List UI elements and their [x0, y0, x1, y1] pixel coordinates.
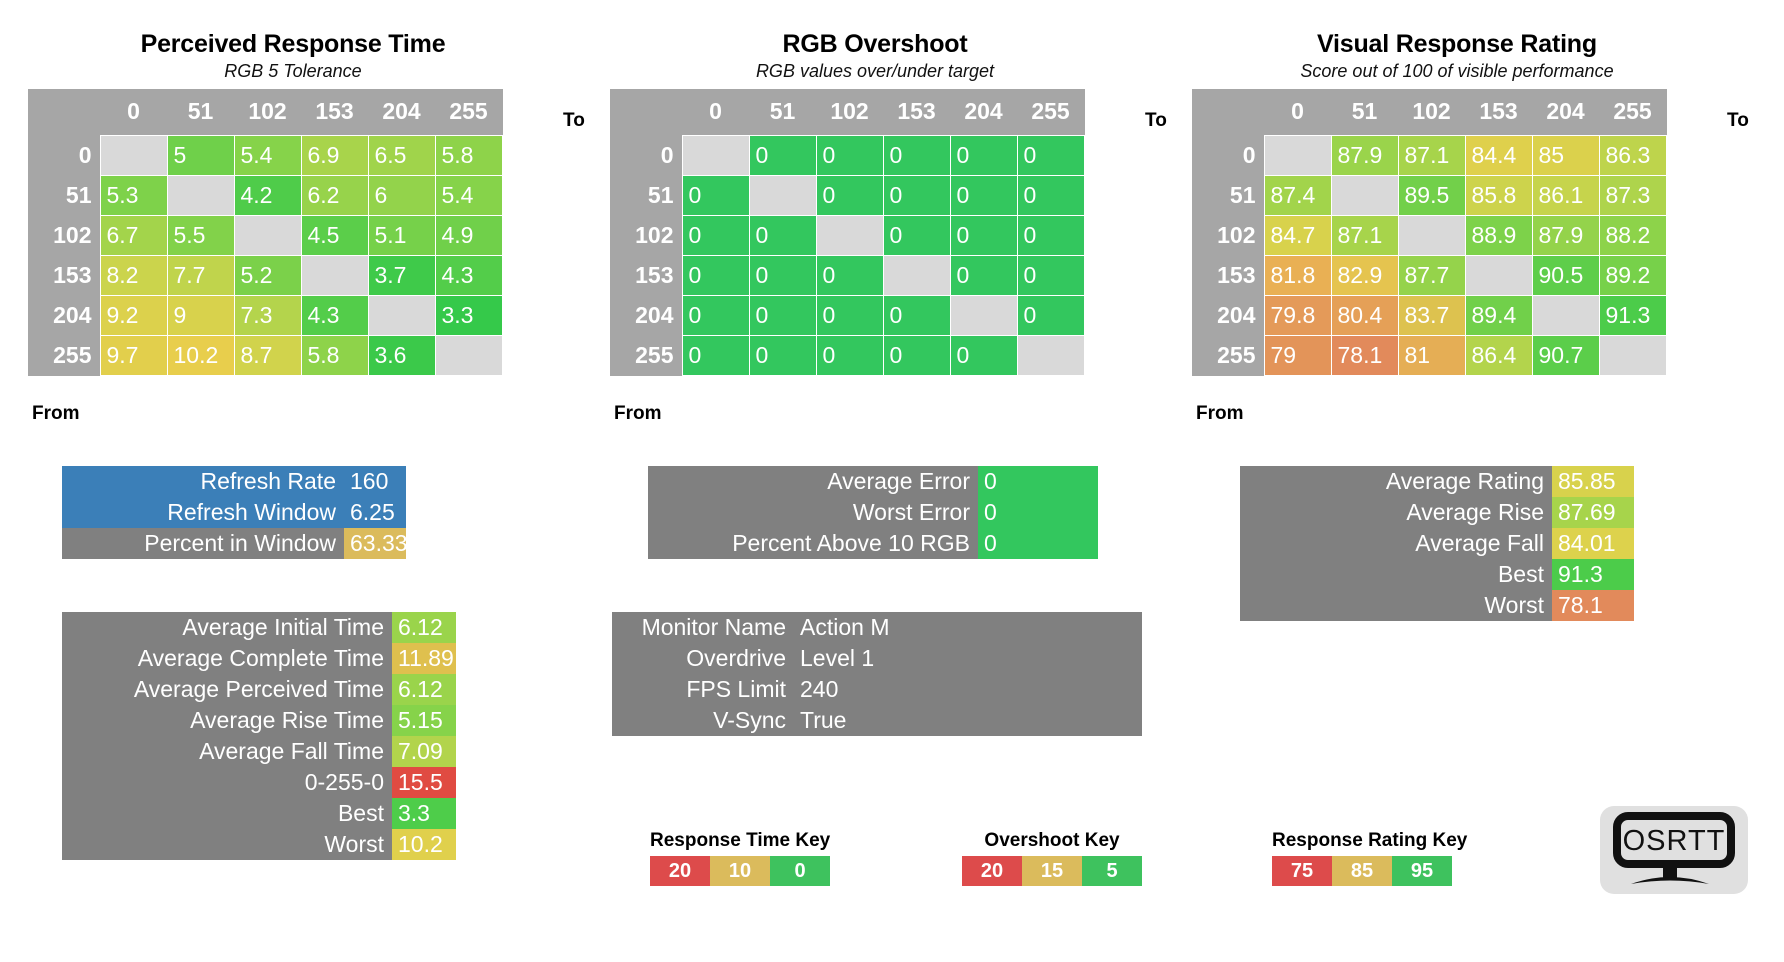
stat-label: Refresh Rate: [62, 466, 344, 497]
matrix-cell: 7.3: [234, 295, 301, 335]
stat-row: Average Rating85.85: [1240, 466, 1634, 497]
matrix-row: 5100000: [610, 175, 1084, 215]
matrix-row: 1026.75.54.55.14.9: [28, 215, 502, 255]
stat-value: 240: [794, 674, 1142, 705]
matrix-cell: 0: [1017, 215, 1084, 255]
refresh-rate-stats-box: Refresh Rate160Refresh Window6.25Percent…: [62, 466, 406, 559]
heatmap-matrix-wrap: 051102153204255055.46.96.55.8515.34.26.2…: [28, 89, 558, 376]
key-title: Overshoot Key: [962, 830, 1142, 852]
matrix-cell-blank: [816, 215, 883, 255]
stat-label: Average Complete Time: [62, 643, 392, 674]
matrix-row-header: 0: [28, 135, 100, 175]
matrix-cell: 0: [749, 335, 816, 375]
matrix-cell: 9: [167, 295, 234, 335]
from-axis-label: From: [614, 403, 662, 425]
matrix-cell: 0: [950, 175, 1017, 215]
matrix-row-header: 51: [610, 175, 682, 215]
matrix-column-header: 102: [234, 89, 301, 135]
matrix-cell: 91.3: [1599, 295, 1666, 335]
stat-row: Average Error0: [648, 466, 1098, 497]
matrix-cell: 3.6: [368, 335, 435, 375]
to-axis-label: To: [563, 110, 585, 132]
matrix-cell: 5.8: [301, 335, 368, 375]
stat-value: 0: [978, 466, 1098, 497]
matrix-row: 055.46.96.55.8: [28, 135, 502, 175]
matrix-cell: 87.1: [1331, 215, 1398, 255]
stat-value: 7.09: [392, 736, 456, 767]
stat-row: Average Initial Time6.12: [62, 612, 456, 643]
key-segment: 20: [962, 856, 1022, 886]
stat-row: Refresh Window6.25: [62, 497, 406, 528]
matrix-cell: 3.7: [368, 255, 435, 295]
matrix-row: 000000: [610, 135, 1084, 175]
matrix-cell: 84.7: [1264, 215, 1331, 255]
matrix-cell: 87.9: [1532, 215, 1599, 255]
matrix-cell: 4.9: [435, 215, 502, 255]
matrix-column-header: 0: [100, 89, 167, 135]
panel-title: Visual Response Rating: [1192, 30, 1722, 59]
stat-row: Best91.3: [1240, 559, 1634, 590]
matrix-column-header: 102: [1398, 89, 1465, 135]
stat-row: Average Rise87.69: [1240, 497, 1634, 528]
matrix-cell: 85: [1532, 135, 1599, 175]
stat-row: Worst78.1: [1240, 590, 1634, 621]
matrix-cell: 7.7: [167, 255, 234, 295]
stat-label: Best: [62, 798, 392, 829]
matrix-column-header: 153: [301, 89, 368, 135]
matrix-column-header: 102: [816, 89, 883, 135]
matrix-cell: 8.2: [100, 255, 167, 295]
matrix-cell: 87.3: [1599, 175, 1666, 215]
key-strip: 20155: [962, 856, 1142, 886]
stat-row: 0-255-015.5: [62, 767, 456, 798]
matrix-cell: 86.1: [1532, 175, 1599, 215]
stat-label: Worst: [1240, 590, 1552, 621]
matrix-cell: 78.1: [1331, 335, 1398, 375]
matrix-cell-blank: [749, 175, 816, 215]
matrix-cell: 81: [1398, 335, 1465, 375]
matrix-cell: 0: [950, 335, 1017, 375]
key-title: Response Time Key: [650, 830, 830, 852]
matrix-column-header: 153: [883, 89, 950, 135]
stat-value: Level 1: [794, 643, 1142, 674]
matrix-cell: 5.2: [234, 255, 301, 295]
stat-row: Monitor NameAction M: [612, 612, 1142, 643]
matrix-row: 10200000: [610, 215, 1084, 255]
matrix-column-header: 255: [435, 89, 502, 135]
matrix-cell: 81.8: [1264, 255, 1331, 295]
matrix-cell: 4.3: [301, 295, 368, 335]
heatmap-table: 051102153204255055.46.96.55.8515.34.26.2…: [28, 89, 503, 376]
matrix-cell: 82.9: [1331, 255, 1398, 295]
stat-value: 0: [978, 497, 1098, 528]
stat-value: 10.2: [392, 829, 456, 860]
matrix-cell: 0: [749, 135, 816, 175]
stat-value: 11.89: [392, 643, 456, 674]
matrix-cell-blank: [167, 175, 234, 215]
osrtt-logo-text: OSRTT: [1623, 825, 1726, 857]
matrix-cell: 0: [883, 135, 950, 175]
matrix-cell: 0: [816, 295, 883, 335]
matrix-cell-blank: [435, 335, 502, 375]
to-axis-label: To: [1727, 110, 1749, 132]
key-title: Response Rating Key: [1272, 830, 1467, 852]
matrix-column-header: 204: [368, 89, 435, 135]
stat-label: Average Perceived Time: [62, 674, 392, 705]
matrix-cell: 80.4: [1331, 295, 1398, 335]
stat-label: V-Sync: [612, 705, 794, 736]
stat-value: 6.12: [392, 674, 456, 705]
matrix-row-header: 102: [28, 215, 100, 255]
stat-value: 5.15: [392, 705, 456, 736]
matrix-cell-blank: [950, 295, 1017, 335]
matrix-cell: 6: [368, 175, 435, 215]
matrix-cell: 0: [682, 175, 749, 215]
matrix-cell: 83.7: [1398, 295, 1465, 335]
matrix-column-header: 204: [1532, 89, 1599, 135]
matrix-cell: 89.4: [1465, 295, 1532, 335]
stat-value: 85.85: [1552, 466, 1634, 497]
matrix-cell: 0: [883, 215, 950, 255]
heatmap-table: 051102153204255087.987.184.48586.35187.4…: [1192, 89, 1667, 376]
osrtt-results-page: Perceived Response Time RGB 5 Tolerance …: [0, 0, 1784, 962]
matrix-cell: 0: [950, 135, 1017, 175]
matrix-row: 5187.489.585.886.187.3: [1192, 175, 1666, 215]
matrix-row-header: 102: [1192, 215, 1264, 255]
matrix-cell-blank: [234, 215, 301, 255]
matrix-cell: 84.4: [1465, 135, 1532, 175]
matrix-cell: 86.3: [1599, 135, 1666, 175]
matrix-column-header: 255: [1599, 89, 1666, 135]
matrix-cell-blank: [368, 295, 435, 335]
matrix-cell-blank: [1398, 215, 1465, 255]
key-segment: 10: [710, 856, 770, 886]
matrix-cell: 0: [950, 215, 1017, 255]
matrix-cell: 9.7: [100, 335, 167, 375]
stat-value: 87.69: [1552, 497, 1634, 528]
matrix-row: 20479.880.483.789.491.3: [1192, 295, 1666, 335]
panel-subtitle: RGB 5 Tolerance: [28, 61, 558, 82]
panel-title: RGB Overshoot: [610, 30, 1140, 59]
matrix-row-header: 0: [1192, 135, 1264, 175]
matrix-column-header: 51: [1331, 89, 1398, 135]
key-segment: 0: [770, 856, 830, 886]
matrix-cell: 0: [883, 295, 950, 335]
stat-row: Percent Above 10 RGB0: [648, 528, 1098, 559]
matrix-cell: 6.7: [100, 215, 167, 255]
matrix-cell-blank: [1465, 255, 1532, 295]
matrix-cell: 0: [749, 215, 816, 255]
matrix-cell: 87.4: [1264, 175, 1331, 215]
stat-label: Average Initial Time: [62, 612, 392, 643]
stat-label: Percent in Window: [62, 528, 344, 559]
matrix-cell: 5.4: [435, 175, 502, 215]
matrix-corner: [1192, 89, 1264, 135]
key-response-time: Response Time Key 20100: [650, 830, 830, 886]
matrix-cell: 0: [749, 255, 816, 295]
matrix-cell: 5.3: [100, 175, 167, 215]
stat-label: Worst Error: [648, 497, 978, 528]
stat-label: Overdrive: [612, 643, 794, 674]
stat-value: 78.1: [1552, 590, 1634, 621]
matrix-cell: 0: [1017, 135, 1084, 175]
matrix-row: 087.987.184.48586.3: [1192, 135, 1666, 175]
matrix-column-header: 0: [1264, 89, 1331, 135]
matrix-cell: 10.2: [167, 335, 234, 375]
stat-label: Refresh Window: [62, 497, 344, 528]
matrix-cell: 0: [816, 255, 883, 295]
key-response-rating: Response Rating Key 758595: [1272, 830, 1467, 886]
stat-row: Worst10.2: [62, 829, 456, 860]
matrix-cell: 5: [167, 135, 234, 175]
stat-row: Refresh Rate160: [62, 466, 406, 497]
matrix-cell-blank: [1017, 335, 1084, 375]
heatmap-matrix-wrap: 051102153204255087.987.184.48586.35187.4…: [1192, 89, 1722, 376]
matrix-cell: 87.9: [1331, 135, 1398, 175]
matrix-cell: 6.9: [301, 135, 368, 175]
stat-value: 15.5: [392, 767, 456, 798]
matrix-column-header: 51: [749, 89, 816, 135]
matrix-cell: 0: [883, 175, 950, 215]
matrix-cell: 88.9: [1465, 215, 1532, 255]
stat-label: Average Rise: [1240, 497, 1552, 528]
response-rating-stats-box: Average Rating85.85Average Rise87.69Aver…: [1240, 466, 1634, 621]
matrix-cell: 90.7: [1532, 335, 1599, 375]
stat-row: FPS Limit240: [612, 674, 1142, 705]
matrix-cell: 5.5: [167, 215, 234, 255]
matrix-row-header: 153: [610, 255, 682, 295]
matrix-row-header: 51: [28, 175, 100, 215]
matrix-row: 2557978.18186.490.7: [1192, 335, 1666, 375]
stat-label: 0-255-0: [62, 767, 392, 798]
stat-row: Average Perceived Time6.12: [62, 674, 456, 705]
stat-value: True: [794, 705, 1142, 736]
matrix-cell: 85.8: [1465, 175, 1532, 215]
panel-visual-response-rating: Visual Response Rating Score out of 100 …: [1192, 30, 1722, 376]
stat-label: Average Rating: [1240, 466, 1552, 497]
stat-row: Average Fall84.01: [1240, 528, 1634, 559]
osrtt-logo: OSRTT: [1600, 806, 1748, 894]
matrix-cell: 5.8: [435, 135, 502, 175]
stat-label: FPS Limit: [612, 674, 794, 705]
stat-label: Average Error: [648, 466, 978, 497]
stat-label: Average Rise Time: [62, 705, 392, 736]
matrix-row: 2049.297.34.33.3: [28, 295, 502, 335]
matrix-cell: 79.8: [1264, 295, 1331, 335]
matrix-cell: 0: [682, 295, 749, 335]
matrix-cell: 87.1: [1398, 135, 1465, 175]
matrix-row: 15300000: [610, 255, 1084, 295]
matrix-cell: 9.2: [100, 295, 167, 335]
matrix-row-header: 204: [28, 295, 100, 335]
matrix-cell: 0: [1017, 255, 1084, 295]
matrix-column-header: 51: [167, 89, 234, 135]
matrix-row: 15381.882.987.790.589.2: [1192, 255, 1666, 295]
stat-value: 160: [344, 466, 406, 497]
matrix-corner: [28, 89, 100, 135]
heatmap-matrix-wrap: 0511021532042550000005100000102000001530…: [610, 89, 1140, 376]
stat-value: 63.33: [344, 528, 406, 559]
matrix-cell: 89.5: [1398, 175, 1465, 215]
key-segment: 95: [1392, 856, 1452, 886]
matrix-row-header: 255: [1192, 335, 1264, 375]
matrix-cell: 89.2: [1599, 255, 1666, 295]
matrix-row: 20400000: [610, 295, 1084, 335]
matrix-row-header: 102: [610, 215, 682, 255]
matrix-cell: 88.2: [1599, 215, 1666, 255]
stat-label: Worst: [62, 829, 392, 860]
stat-label: Percent Above 10 RGB: [648, 528, 978, 559]
matrix-cell: 87.7: [1398, 255, 1465, 295]
matrix-cell-blank: [883, 255, 950, 295]
to-axis-label: To: [1145, 110, 1167, 132]
matrix-row-header: 153: [1192, 255, 1264, 295]
matrix-cell: 0: [816, 135, 883, 175]
matrix-cell: 86.4: [1465, 335, 1532, 375]
matrix-cell: 0: [883, 335, 950, 375]
matrix-column-header: 153: [1465, 89, 1532, 135]
key-segment: 20: [650, 856, 710, 886]
stat-row: Best3.3: [62, 798, 456, 829]
osrtt-monitor-icon: OSRTT: [1611, 812, 1737, 888]
matrix-cell: 4.3: [435, 255, 502, 295]
stat-row: OverdriveLevel 1: [612, 643, 1142, 674]
matrix-cell-blank: [1331, 175, 1398, 215]
matrix-cell-blank: [301, 255, 368, 295]
heatmap-table: 0511021532042550000005100000102000001530…: [610, 89, 1085, 376]
stat-value: 84.01: [1552, 528, 1634, 559]
matrix-row-header: 255: [28, 335, 100, 375]
matrix-row: 25500000: [610, 335, 1084, 375]
matrix-cell: 3.3: [435, 295, 502, 335]
response-time-stats-box: Average Initial Time6.12Average Complete…: [62, 612, 456, 860]
matrix-cell: 0: [1017, 295, 1084, 335]
matrix-cell: 8.7: [234, 335, 301, 375]
stat-row: Average Fall Time7.09: [62, 736, 456, 767]
stat-value: 91.3: [1552, 559, 1634, 590]
key-segment: 5: [1082, 856, 1142, 886]
matrix-row: 10284.787.188.987.988.2: [1192, 215, 1666, 255]
matrix-row: 2559.710.28.75.83.6: [28, 335, 502, 375]
panel-subtitle: RGB values over/under target: [610, 61, 1140, 82]
key-strip: 20100: [650, 856, 830, 886]
stat-label: Average Fall: [1240, 528, 1552, 559]
matrix-row-header: 255: [610, 335, 682, 375]
from-axis-label: From: [32, 403, 80, 425]
panel-title: Perceived Response Time: [28, 30, 558, 59]
overshoot-stats-box: Average Error0Worst Error0Percent Above …: [648, 466, 1098, 559]
stat-value: 3.3: [392, 798, 456, 829]
stat-row: Average Rise Time5.15: [62, 705, 456, 736]
matrix-row-header: 204: [1192, 295, 1264, 335]
matrix-cell: 0: [682, 215, 749, 255]
matrix-row-header: 204: [610, 295, 682, 335]
matrix-cell-blank: [100, 135, 167, 175]
stat-row: Average Complete Time11.89: [62, 643, 456, 674]
matrix-cell-blank: [682, 135, 749, 175]
matrix-row-header: 153: [28, 255, 100, 295]
panel-rgb-overshoot: RGB Overshoot RGB values over/under targ…: [610, 30, 1140, 376]
matrix-cell-blank: [1264, 135, 1331, 175]
matrix-cell: 0: [816, 175, 883, 215]
matrix-cell: 5.1: [368, 215, 435, 255]
panel-perceived-response-time: Perceived Response Time RGB 5 Tolerance …: [28, 30, 558, 376]
stat-row: Percent in Window63.33: [62, 528, 406, 559]
matrix-cell: 6.2: [301, 175, 368, 215]
matrix-row-header: 0: [610, 135, 682, 175]
key-segment: 15: [1022, 856, 1082, 886]
matrix-row: 1538.27.75.23.74.3: [28, 255, 502, 295]
panel-subtitle: Score out of 100 of visible performance: [1192, 61, 1722, 82]
monitor-info-box: Monitor NameAction MOverdriveLevel 1FPS …: [612, 612, 1142, 736]
key-overshoot: Overshoot Key 20155: [962, 830, 1142, 886]
matrix-cell: 5.4: [234, 135, 301, 175]
matrix-cell: 0: [1017, 175, 1084, 215]
stat-value: Action M: [794, 612, 1142, 643]
matrix-cell: 0: [682, 255, 749, 295]
matrix-row: 515.34.26.265.4: [28, 175, 502, 215]
matrix-column-header: 255: [1017, 89, 1084, 135]
matrix-cell: 4.5: [301, 215, 368, 255]
matrix-cell: 0: [682, 335, 749, 375]
matrix-cell: 79: [1264, 335, 1331, 375]
matrix-column-header: 0: [682, 89, 749, 135]
matrix-cell: 4.2: [234, 175, 301, 215]
stat-value: 6.25: [344, 497, 406, 528]
from-axis-label: From: [1196, 403, 1244, 425]
key-segment: 85: [1332, 856, 1392, 886]
stat-row: Worst Error0: [648, 497, 1098, 528]
key-segment: 75: [1272, 856, 1332, 886]
matrix-cell-blank: [1599, 335, 1666, 375]
matrix-row-header: 51: [1192, 175, 1264, 215]
key-strip: 758595: [1272, 856, 1467, 886]
matrix-cell: 90.5: [1532, 255, 1599, 295]
matrix-cell: 6.5: [368, 135, 435, 175]
matrix-column-header: 204: [950, 89, 1017, 135]
matrix-cell: 0: [749, 295, 816, 335]
stat-label: Average Fall Time: [62, 736, 392, 767]
stat-label: Best: [1240, 559, 1552, 590]
matrix-corner: [610, 89, 682, 135]
stat-row: V-SyncTrue: [612, 705, 1142, 736]
matrix-cell: 0: [950, 255, 1017, 295]
stat-label: Monitor Name: [612, 612, 794, 643]
stat-value: 6.12: [392, 612, 456, 643]
matrix-cell: 0: [816, 335, 883, 375]
matrix-cell-blank: [1532, 295, 1599, 335]
stat-value: 0: [978, 528, 1098, 559]
